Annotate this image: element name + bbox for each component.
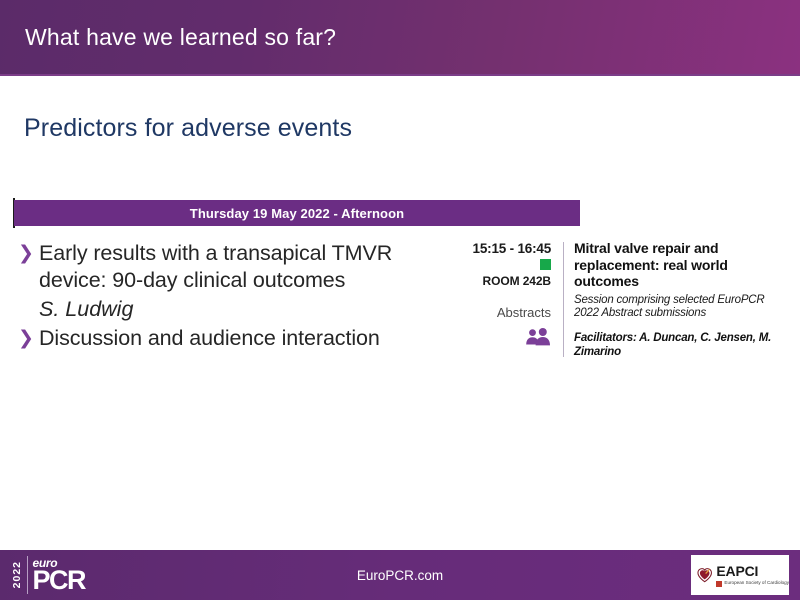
- eapci-name: EAPCI: [716, 564, 789, 578]
- page-title: What have we learned so far?: [0, 24, 336, 51]
- esc-mark-icon: [716, 581, 722, 587]
- eapci-logo: EAPCI European Society of Cardiology: [691, 555, 789, 595]
- chevron-right-icon: ❯: [18, 240, 39, 267]
- talk-title: Discussion and audience interaction: [39, 325, 380, 352]
- session-room: ROOM 242B: [458, 274, 551, 288]
- talk-speaker-row: S. Ludwig: [18, 296, 458, 323]
- list-item: ❯ Early results with a transapical TMVR …: [18, 240, 458, 294]
- talk-speaker: S. Ludwig: [39, 296, 133, 323]
- audience-icon-row: [458, 328, 551, 346]
- session-date-bar: Thursday 19 May 2022 - Afternoon: [13, 200, 580, 226]
- eapci-subtitle-row: European Society of Cardiology: [716, 581, 789, 587]
- chevron-right-icon: ❯: [18, 325, 39, 352]
- eapci-subtitle: European Society of Cardiology: [724, 581, 789, 586]
- eapci-text: EAPCI European Society of Cardiology: [716, 564, 789, 587]
- session-meta: 15:15 - 16:45 ROOM 242B Abstracts: [458, 240, 563, 359]
- heart-arrow-icon: [697, 562, 712, 588]
- status-badge-row: [458, 259, 551, 270]
- session-description: Session comprising selected EuroPCR 2022…: [574, 294, 782, 321]
- talk-title: Early results with a transapical TMVR de…: [39, 240, 458, 294]
- session-info: Mitral valve repair and replacement: rea…: [564, 240, 782, 359]
- session-date-label: Thursday 19 May 2022 - Afternoon: [190, 206, 404, 221]
- slide-subtitle: Predictors for adverse events: [24, 114, 352, 143]
- session-body: ❯ Early results with a transapical TMVR …: [13, 240, 788, 359]
- status-badge: [540, 259, 551, 270]
- talk-list: ❯ Early results with a transapical TMVR …: [13, 240, 458, 359]
- list-item: ❯ Discussion and audience interaction: [18, 325, 458, 352]
- session-time: 15:15 - 16:45: [458, 241, 551, 256]
- session-facilitators: Facilitators: A. Duncan, C. Jensen, M. Z…: [574, 331, 782, 359]
- session-title: Mitral valve repair and replacement: rea…: [574, 240, 782, 290]
- footer-url: EuroPCR.com: [0, 550, 800, 600]
- slide-header: What have we learned so far?: [0, 0, 800, 76]
- session-card: Thursday 19 May 2022 - Afternoon ❯ Early…: [13, 200, 788, 359]
- footer-url-label: EuroPCR.com: [357, 568, 443, 583]
- people-icon: [525, 328, 551, 346]
- session-type: Abstracts: [458, 305, 551, 320]
